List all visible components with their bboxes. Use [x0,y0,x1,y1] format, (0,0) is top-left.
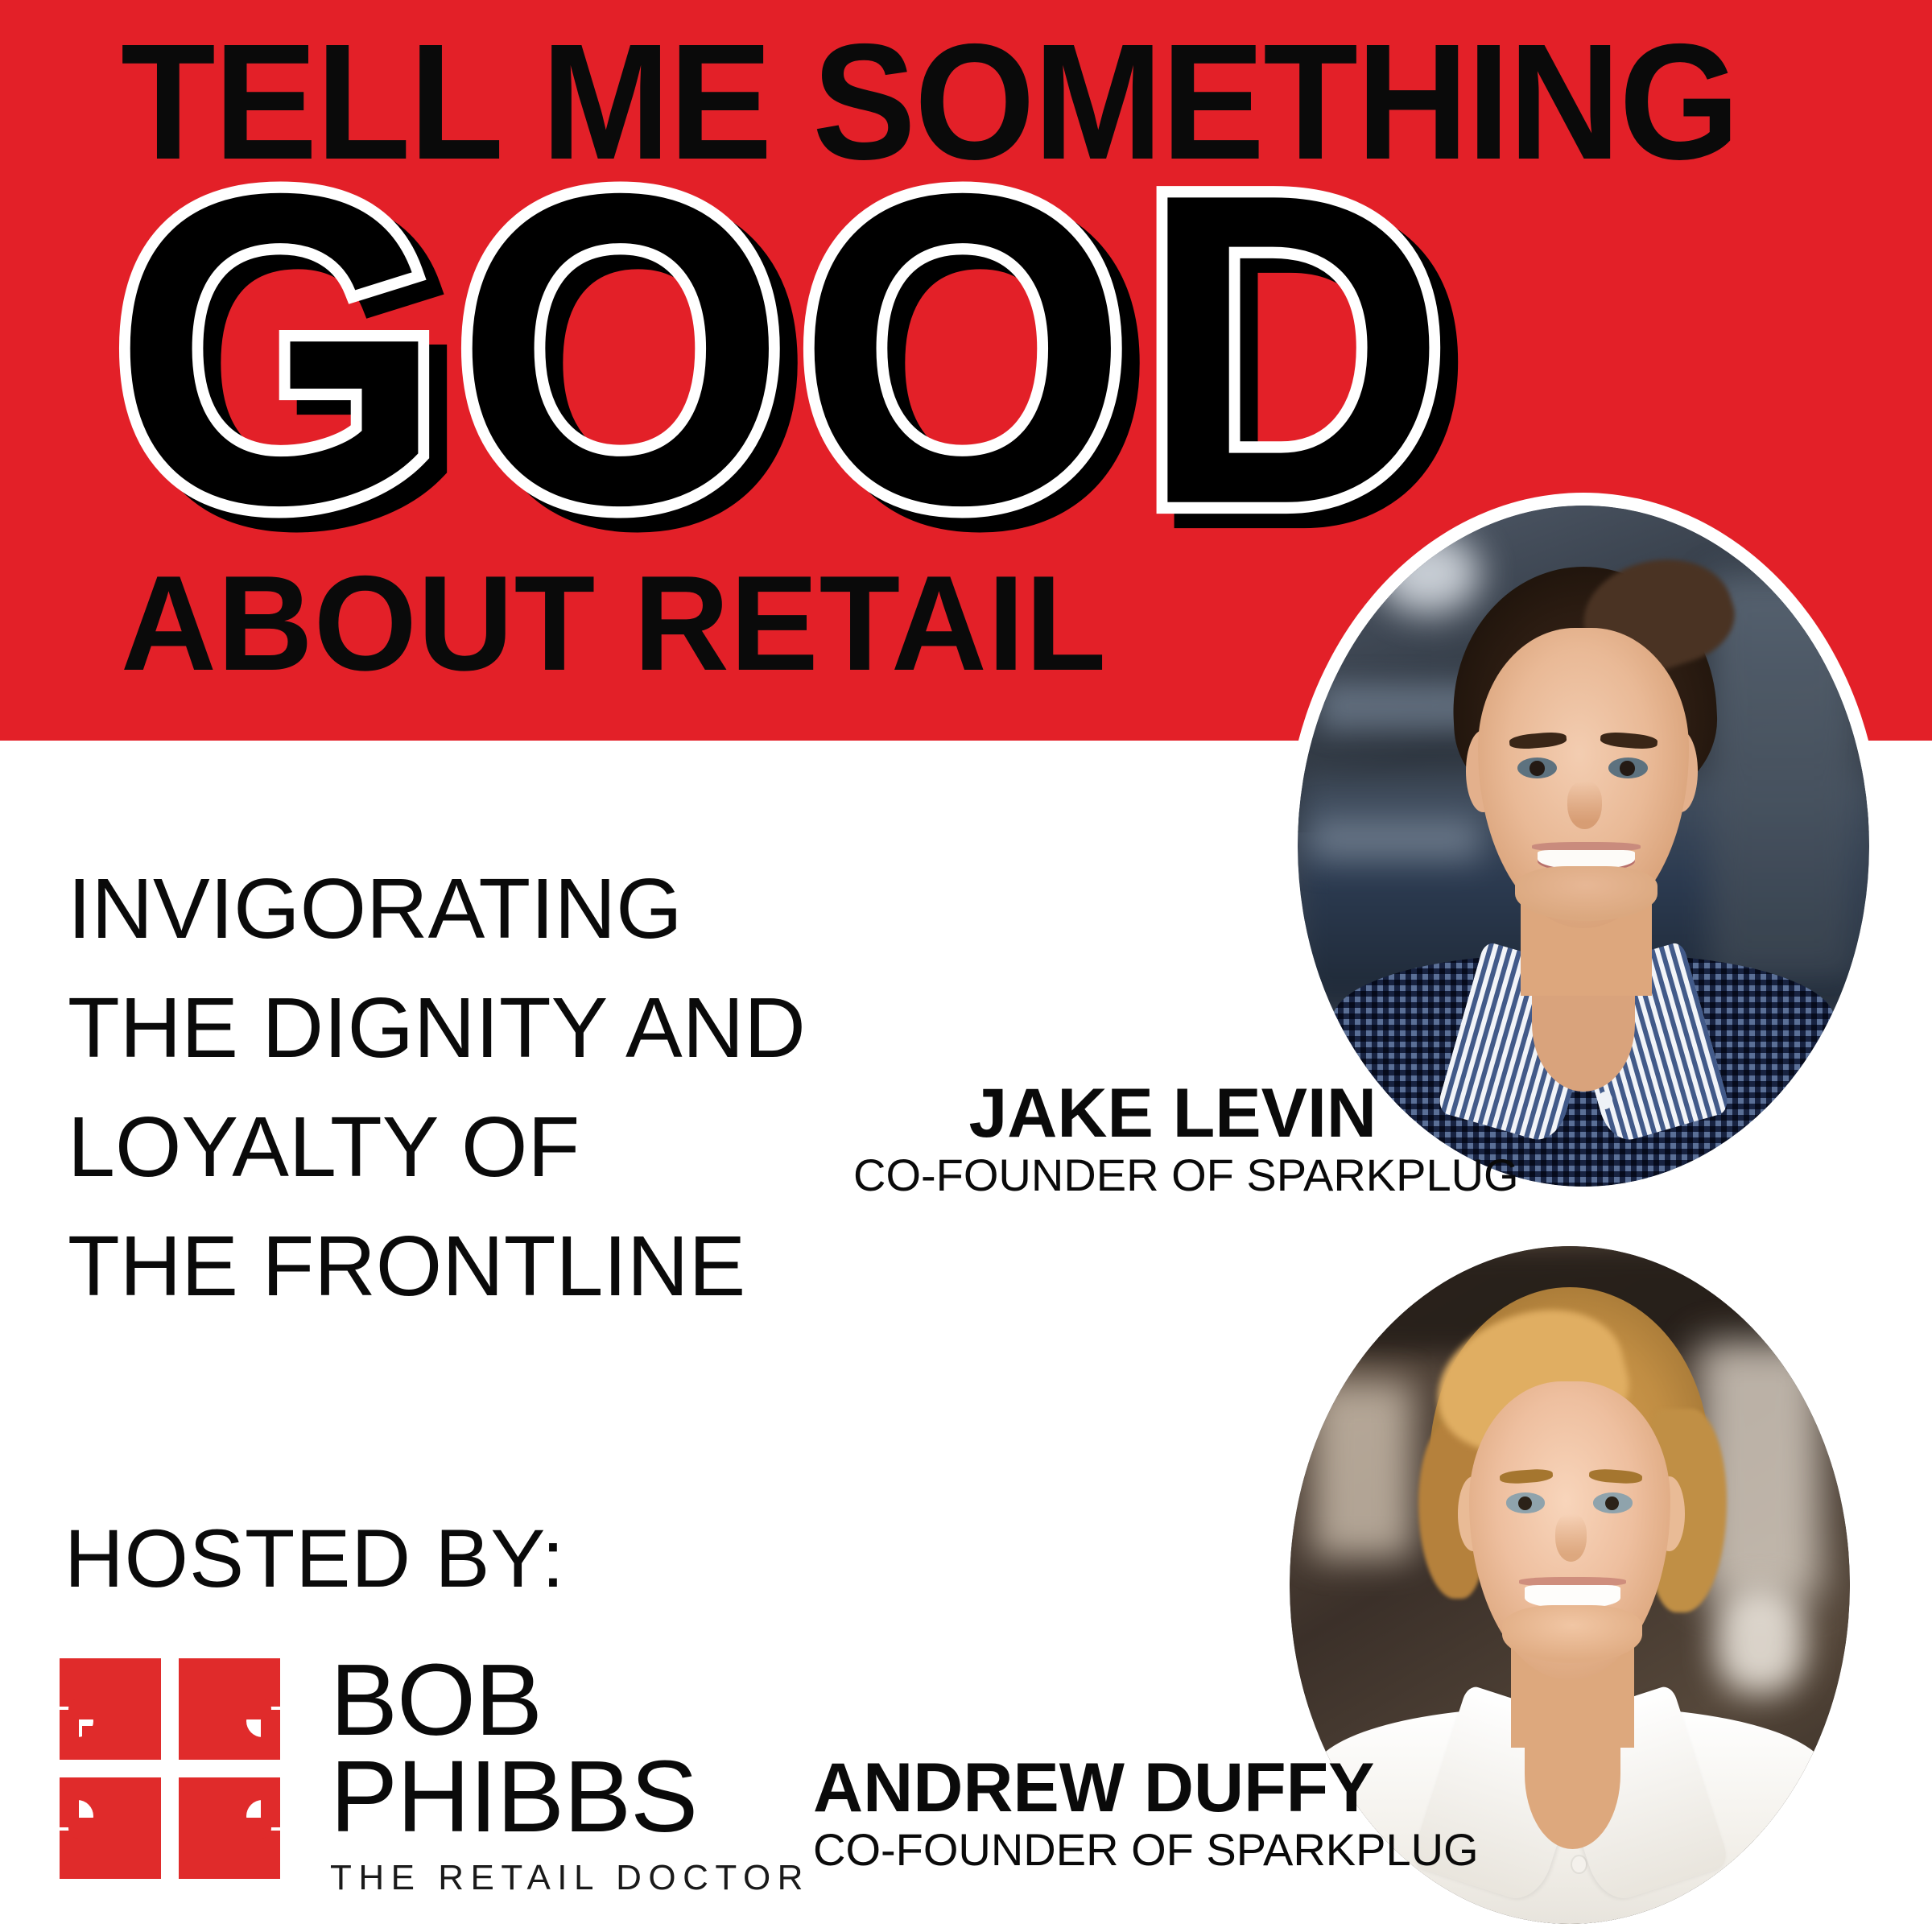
episode-title-line-4: THE FRONTLINE [68,1207,969,1326]
guest-name-andrew-duffy: ANDREW DUFFY [813,1752,1336,1824]
show-title-lockup: TELL ME SOMETHING GOOD GOOD GOOD ABOUT R… [0,0,1610,741]
host-logo-tagline: THE RETAIL DOCTOR [330,1860,749,1897]
guest-photo-image-andrew-duffy [1290,1246,1850,1924]
guest-label-andrew-duffy: ANDREW DUFFY CO-FOUNDER OF SPARKPLUG [813,1752,1336,1876]
episode-title-line-1: INVIGORATING [68,849,969,968]
hosted-by-label: HOSTED BY: [64,1517,565,1600]
host-logo-word-phibbs: PHIBBS [330,1748,749,1845]
host-logo-wordmark: BOB PHIBBS THE RETAIL DOCTOR [330,1652,749,1897]
podcast-cover-art: TELL ME SOMETHING GOOD GOOD GOOD ABOUT R… [0,0,1932,1932]
show-title-good-wordmark: GOOD GOOD GOOD [113,141,1562,519]
good-wordmark-fill-layer: GOOD [113,141,1457,557]
episode-title-line-3: LOYALTY OF [68,1088,969,1207]
episode-title: INVIGORATING THE DIGNITY AND LOYALTY OF … [68,849,969,1326]
host-logo-word-bob: BOB [330,1652,749,1748]
guest-photo-andrew-duffy [1290,1246,1850,1924]
bob-phibbs-logo-mark-icon [58,1657,282,1880]
guest-role-andrew-duffy: CO-FOUNDER OF SPARKPLUG [813,1824,1336,1876]
episode-title-line-2: THE DIGNITY AND [68,968,969,1088]
host-logo: BOB PHIBBS THE RETAIL DOCTOR [58,1657,742,1898]
